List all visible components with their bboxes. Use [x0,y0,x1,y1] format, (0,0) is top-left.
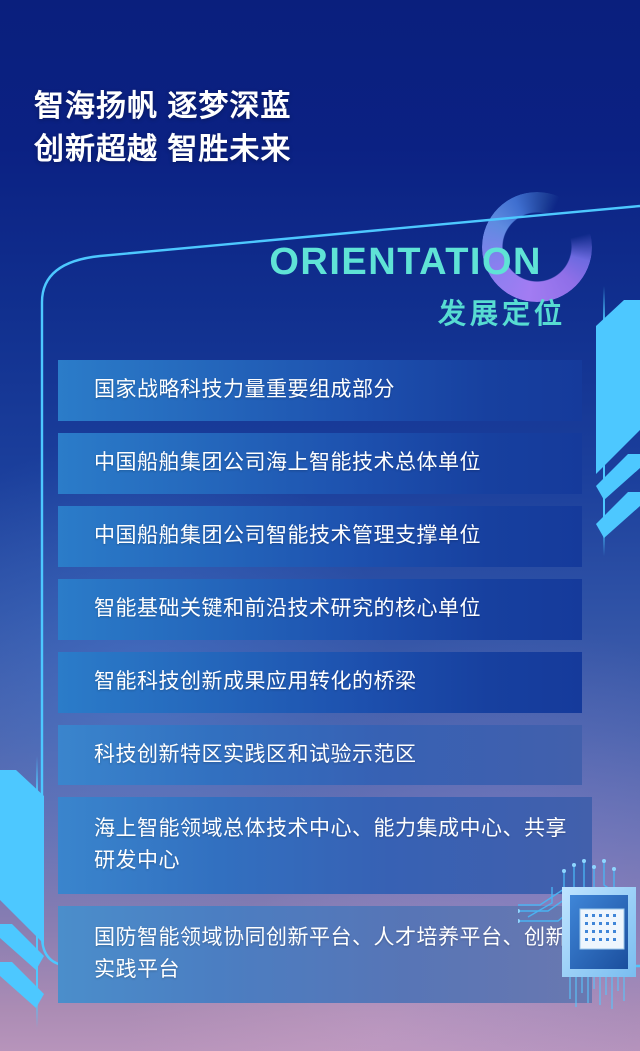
headline-line-1: 智海扬帆 逐梦深蓝 [34,90,291,123]
list-item-label: 国家战略科技力量重要组成部分 [94,378,395,401]
list-item[interactable]: 中国船舶集团公司海上智能技术总体单位 [58,433,582,494]
right-accent-line [603,286,605,556]
right-chevron-shapes [594,300,640,556]
list-item[interactable]: 智能科技创新成果应用转化的桥梁 [58,652,582,713]
list-item-label: 海上智能领域总体技术中心、能力集成中心、共享研发中心 [94,817,567,872]
left-chevron-shapes [0,770,46,1026]
list-item-label: 智能基础关键和前沿技术研究的核心单位 [94,597,481,620]
list-item[interactable]: 中国船舶集团公司智能技术管理支撑单位 [58,506,582,567]
list-item[interactable]: 科技创新特区实践区和试验示范区 [58,725,582,786]
section-title-en: ORIENTATION [269,243,542,281]
chevron-stripes-icon [0,770,46,1026]
left-accent-line [36,756,38,1028]
list-item-label: 国防智能领域协同创新平台、人才培养平台、创新实践平台 [94,926,567,981]
list-item[interactable]: 智能基础关键和前沿技术研究的核心单位 [58,579,582,640]
list-item-label: 科技创新特区实践区和试验示范区 [94,743,417,766]
list-item[interactable]: 海上智能领域总体技术中心、能力集成中心、共享研发中心 [58,797,592,894]
list-item[interactable]: 国防智能领域协同创新平台、人才培养平台、创新实践平台 [58,906,592,1003]
poster-headline: 智海扬帆 逐梦深蓝 创新超越 智胜未来 [34,86,454,171]
headline-line-2: 创新超越 智胜未来 [34,129,454,172]
list-item-label: 智能科技创新成果应用转化的桥梁 [94,670,417,693]
list-item-label: 中国船舶集团公司智能技术管理支撑单位 [94,524,481,547]
poster-canvas: 智海扬帆 逐梦深蓝 创新超越 智胜未来 ORIENTATION 发展定位 [0,0,640,1051]
chevron-stripes-icon [594,300,640,556]
list-item-label: 中国船舶集团公司海上智能技术总体单位 [94,451,481,474]
orientation-list: 国家战略科技力量重要组成部分 中国船舶集团公司海上智能技术总体单位 中国船舶集团… [58,360,582,1015]
list-item[interactable]: 国家战略科技力量重要组成部分 [58,360,582,421]
section-title-zh: 发展定位 [438,300,566,328]
